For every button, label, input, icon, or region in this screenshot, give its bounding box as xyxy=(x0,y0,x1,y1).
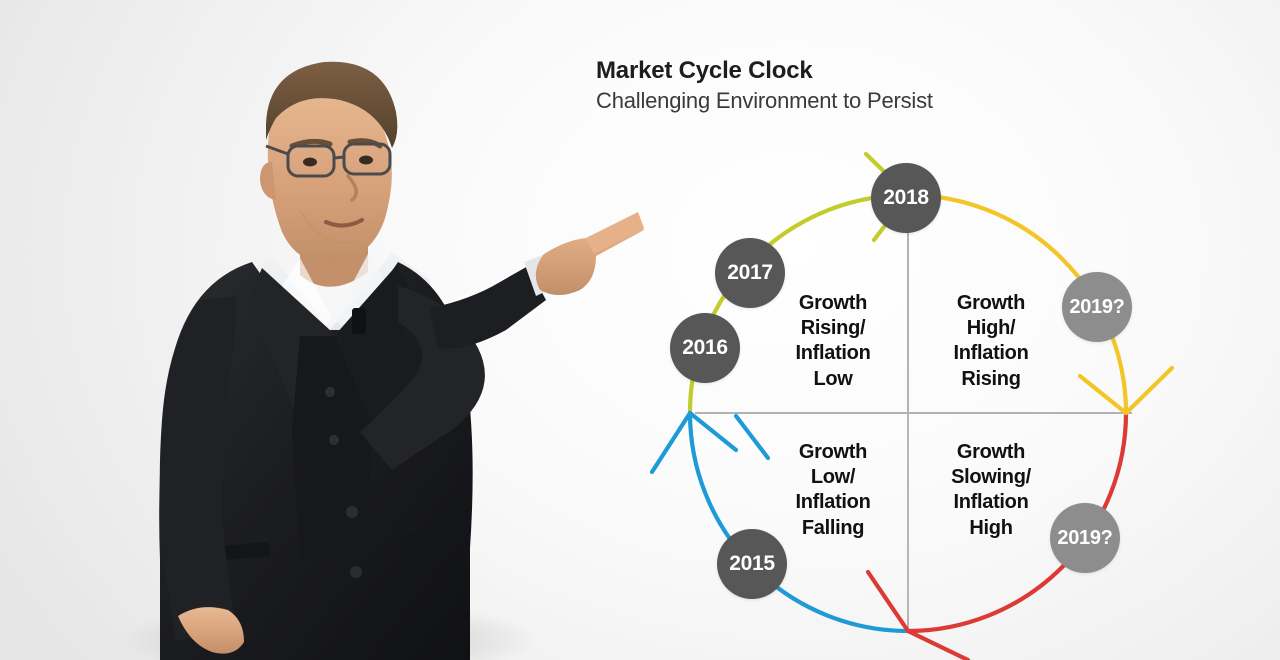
quadrant-br-line-3: Inflation xyxy=(916,490,1066,515)
quadrant-tl-line-2: Rising/ xyxy=(758,316,908,341)
quadrant-bl-line-1: Growth xyxy=(758,440,908,465)
quadrant-tr-line-3: Inflation xyxy=(916,341,1066,366)
quadrant-br-line-2: Slowing/ xyxy=(916,465,1066,490)
quadrant-tr-line-4: Rising xyxy=(916,367,1066,392)
arm-forearm-right xyxy=(430,266,546,349)
jacket-button-1 xyxy=(346,506,358,518)
quadrant-label-top-right: Growth High/ Inflation Rising xyxy=(916,291,1066,392)
quadrant-bl-line-4: Falling xyxy=(758,516,908,541)
eye-left xyxy=(303,158,317,167)
year-marker-2015[interactable]: 2015 xyxy=(717,529,787,599)
presenter-photo xyxy=(0,0,680,660)
year-marker-2016[interactable]: 2016 xyxy=(670,313,740,383)
page-subtitle: Challenging Environment to Persist xyxy=(596,88,933,113)
pocket-detail xyxy=(352,308,366,334)
quadrant-bl-line-2: Low/ xyxy=(758,465,908,490)
quadrant-label-top-left: Growth Rising/ Inflation Low xyxy=(758,291,908,392)
quadrant-tl-line-1: Growth xyxy=(758,291,908,316)
year-marker-2019-bottom-right[interactable]: 2019? xyxy=(1050,503,1120,573)
quadrant-label-bottom-left: Growth Low/ Inflation Falling xyxy=(758,440,908,541)
vest-button-1 xyxy=(325,387,335,397)
year-marker-2019-top-right[interactable]: 2019? xyxy=(1062,272,1132,342)
year-marker-2017[interactable]: 2017 xyxy=(715,238,785,308)
quadrant-tl-line-4: Low xyxy=(758,367,908,392)
quadrant-br-line-4: High xyxy=(916,516,1066,541)
arrowhead-6-oclock xyxy=(868,572,968,660)
quadrant-tr-line-1: Growth xyxy=(916,291,1066,316)
quadrant-bl-line-3: Inflation xyxy=(758,490,908,515)
vest-button-2 xyxy=(329,435,339,445)
title-block: Market Cycle Clock Challenging Environme… xyxy=(596,58,933,114)
quadrant-tr-line-2: High/ xyxy=(916,316,1066,341)
slide-canvas: Market Cycle Clock Challenging Environme… xyxy=(0,0,1280,660)
quadrant-label-bottom-right: Growth Slowing/ Inflation High xyxy=(916,440,1066,541)
presenter-illustration xyxy=(0,0,680,660)
page-title: Market Cycle Clock xyxy=(596,58,933,84)
quadrant-tl-line-3: Inflation xyxy=(758,341,908,366)
eye-right xyxy=(359,156,373,165)
quadrant-br-line-1: Growth xyxy=(916,440,1066,465)
jacket-button-2 xyxy=(350,566,362,578)
year-marker-2018[interactable]: 2018 xyxy=(871,163,941,233)
